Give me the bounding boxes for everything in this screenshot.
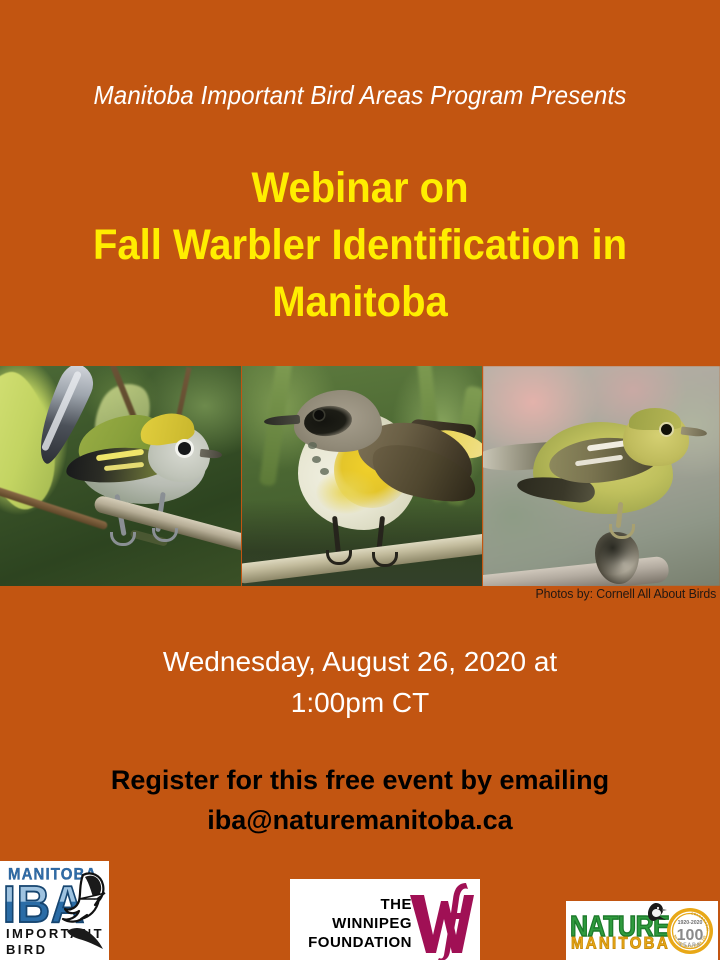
badge-number: 100 — [677, 927, 704, 944]
logo-winnipeg-foundation: THE WINNIPEG FOUNDATION — [290, 879, 480, 960]
wpg-line-3: FOUNDATION — [294, 933, 412, 952]
badge-label: YEARS — [679, 943, 701, 949]
pelican-icon — [53, 869, 109, 955]
nature-manitoba-word-2: MANITOBA — [571, 934, 670, 953]
registration-email[interactable]: iba@naturemanitoba.ca — [0, 800, 720, 840]
title-line-1: Webinar on — [25, 160, 695, 217]
wf-monogram-icon — [408, 879, 480, 960]
winnipeg-foundation-wordmark: THE WINNIPEG FOUNDATION — [294, 895, 412, 952]
event-date: Wednesday, August 26, 2020 at — [0, 641, 720, 682]
event-time: 1:00pm CT — [0, 682, 720, 723]
bird-breast-spots — [308, 442, 336, 476]
photo-credit: Photos by: Cornell All About Birds — [535, 586, 716, 601]
blackpoll-warbler-photo — [483, 366, 720, 586]
title-line-3: Manitoba — [25, 274, 695, 331]
chestnut-sided-warbler-photo — [0, 366, 241, 586]
event-datetime: Wednesday, August 26, 2020 at 1:00pm CT — [0, 641, 720, 723]
registration-instruction: Register for this free event by emailing — [0, 760, 720, 800]
badge-year-range: 1920-2020 — [678, 920, 703, 926]
logo-manitoba-iba: MANITOBA IBA IMPORTANT BIRD AREAS — [0, 861, 109, 960]
wpg-line-2: WINNIPEG — [294, 914, 412, 933]
presenter-line: Manitoba Important Bird Areas Program Pr… — [25, 80, 695, 111]
bird-belly-patch — [316, 470, 376, 514]
page-title: Webinar on Fall Warbler Identification i… — [25, 160, 695, 331]
bird-eye — [314, 410, 324, 420]
photo-strip — [0, 366, 720, 586]
logo-nature-manitoba: NATURE MANITOBA CELEBRATING 100 NATURE M… — [566, 901, 718, 960]
wpg-line-1: THE — [294, 895, 412, 914]
title-line-2: Fall Warbler Identification in — [25, 217, 695, 274]
poster-canvas: Manitoba Important Bird Areas Program Pr… — [0, 0, 720, 960]
registration-block: Register for this free event by emailing… — [0, 760, 720, 840]
american-redstart-photo — [242, 366, 483, 586]
100-years-badge-icon: CELEBRATING 100 NATURE MANITOBA 100 1920… — [666, 907, 714, 955]
bird-eye — [178, 442, 191, 455]
